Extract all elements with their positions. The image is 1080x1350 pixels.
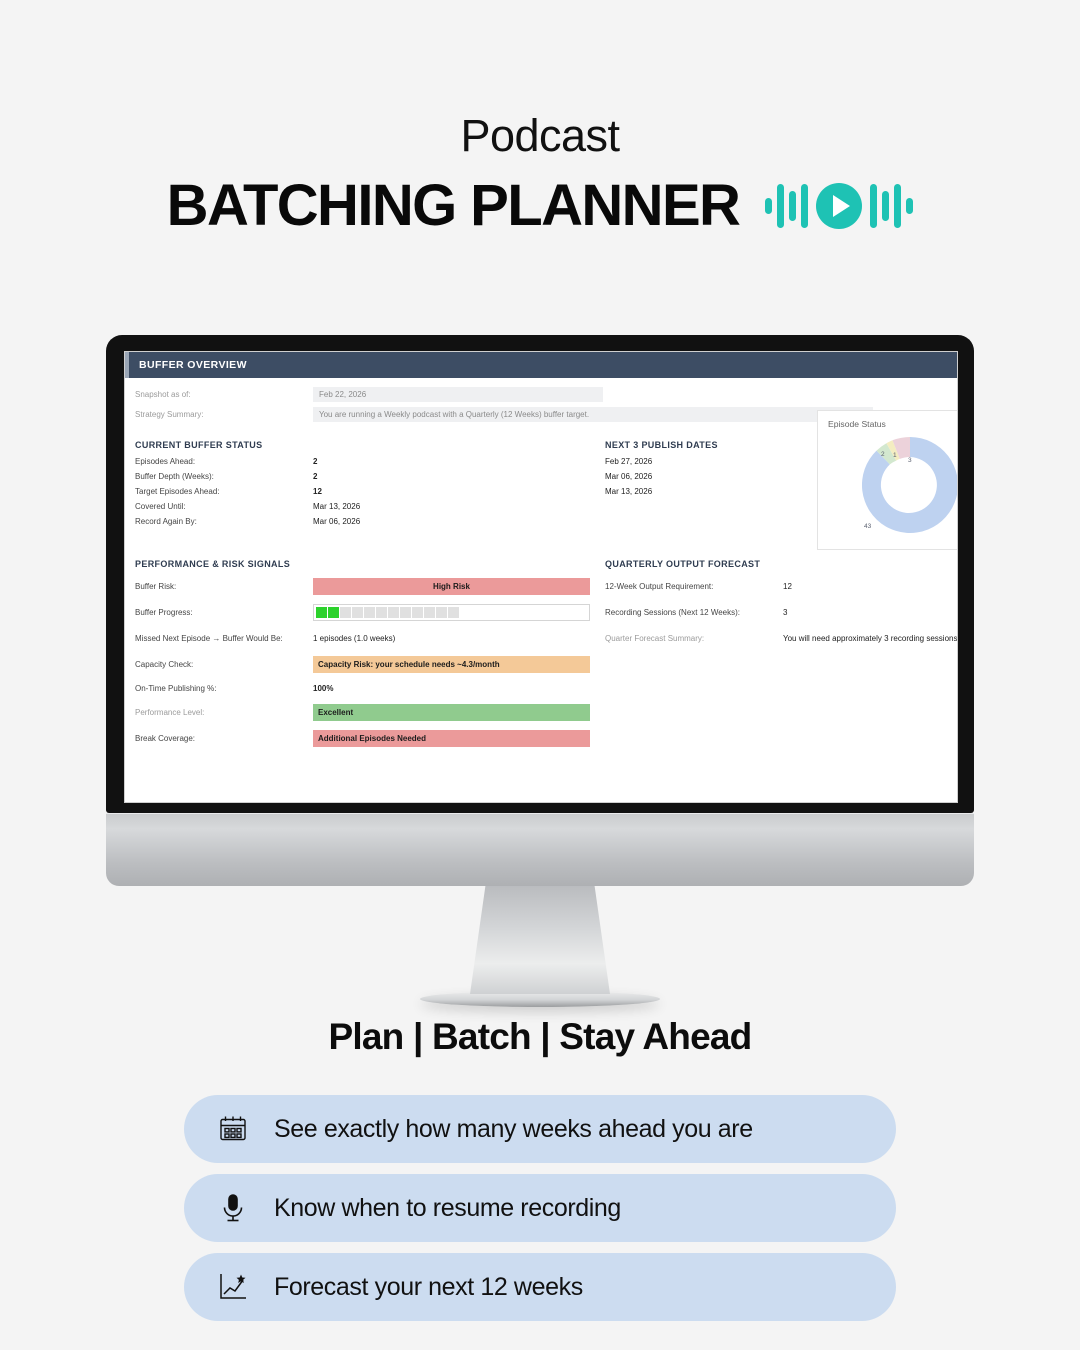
list-item: Mar 06, 2026 bbox=[605, 469, 805, 484]
buffer-risk-label: Buffer Risk: bbox=[135, 582, 313, 591]
donut-label: 1 bbox=[893, 452, 897, 459]
row-break-coverage: Break Coverage: Additional Episodes Need… bbox=[135, 725, 605, 751]
progress-block bbox=[412, 607, 423, 618]
performance-risk-signals: PERFORMANCE & RISK SIGNALS Buffer Risk: … bbox=[135, 559, 605, 751]
row-missed-episode: Missed Next Episode → Buffer Would Be: 1… bbox=[135, 625, 605, 651]
status-badge-break-coverage: Additional Episodes Needed bbox=[313, 730, 590, 747]
strategy-value[interactable]: You are running a Weekly podcast with a … bbox=[313, 407, 873, 422]
row-buffer-risk: Buffer Risk: High Risk bbox=[135, 573, 605, 599]
upper-columns: CURRENT BUFFER STATUS Episodes Ahead: 2 … bbox=[135, 440, 958, 529]
wave-bar bbox=[882, 191, 889, 221]
monitor-bezel: BUFFER OVERVIEW Snapshot as of: Feb 22, … bbox=[106, 335, 974, 813]
publish-date: Mar 13, 2026 bbox=[605, 487, 652, 496]
chart-title: Episode Status bbox=[828, 419, 958, 429]
progress-block bbox=[376, 607, 387, 618]
chart-star-icon bbox=[214, 1270, 252, 1304]
capacity-check-label: Capacity Check: bbox=[135, 660, 313, 669]
row-label: Target Episodes Ahead: bbox=[135, 487, 313, 496]
wave-bar bbox=[777, 184, 784, 228]
summary-label: Quarter Forecast Summary: bbox=[605, 634, 783, 643]
row-snapshot: Snapshot as of: Feb 22, 2026 bbox=[135, 387, 958, 402]
next-publish-dates-title: NEXT 3 PUBLISH DATES bbox=[605, 440, 805, 450]
monitor-mockup: BUFFER OVERVIEW Snapshot as of: Feb 22, … bbox=[106, 335, 974, 1007]
wave-bar bbox=[801, 184, 808, 228]
progress-block bbox=[388, 607, 399, 618]
monitor-neck bbox=[470, 886, 610, 994]
sessions-label: Recording Sessions (Next 12 Weeks): bbox=[605, 608, 783, 617]
progress-block bbox=[328, 607, 339, 618]
spreadsheet-body: Snapshot as of: Feb 22, 2026 Strategy Su… bbox=[125, 378, 958, 751]
promo-page: Podcast BATCHING PLANNER B bbox=[0, 0, 1080, 1350]
sessions-value: 3 bbox=[783, 608, 787, 617]
requirement-label: 12-Week Output Requirement: bbox=[605, 582, 783, 591]
progress-block bbox=[364, 607, 375, 618]
monitor-chin bbox=[106, 813, 974, 886]
spreadsheet: BUFFER OVERVIEW Snapshot as of: Feb 22, … bbox=[125, 352, 958, 751]
status-badge-performance: Excellent bbox=[313, 704, 590, 721]
header-title-row: BATCHING PLANNER bbox=[0, 177, 1080, 235]
feature-list: See exactly how many weeks ahead you are… bbox=[184, 1095, 896, 1332]
feature-label: See exactly how many weeks ahead you are bbox=[274, 1115, 753, 1144]
row-label: Buffer Depth (Weeks): bbox=[135, 472, 313, 481]
progress-block bbox=[436, 607, 447, 618]
publish-date: Mar 06, 2026 bbox=[605, 472, 652, 481]
calendar-icon bbox=[214, 1112, 252, 1146]
monitor-screen: BUFFER OVERVIEW Snapshot as of: Feb 22, … bbox=[124, 351, 958, 803]
row-label: Covered Until: bbox=[135, 502, 313, 511]
status-badge-capacity: Capacity Risk: your schedule needs ~4.3/… bbox=[313, 656, 590, 673]
missed-episode-value: 1 episodes (1.0 weeks) bbox=[313, 634, 395, 643]
list-item: Feb 27, 2026 bbox=[605, 454, 805, 469]
ontime-label: On-Time Publishing %: bbox=[135, 684, 313, 693]
buffer-progress-label: Buffer Progress: bbox=[135, 608, 313, 617]
wave-bar bbox=[906, 198, 913, 214]
row-value: 2 bbox=[313, 457, 317, 466]
header-eyebrow: Podcast bbox=[0, 112, 1080, 159]
play-triangle bbox=[833, 195, 850, 217]
row-output-requirement: 12-Week Output Requirement: 12 bbox=[605, 573, 958, 599]
row-label: Episodes Ahead: bbox=[135, 457, 313, 466]
table-row: Record Again By: Mar 06, 2026 bbox=[135, 514, 605, 529]
publish-date: Feb 27, 2026 bbox=[605, 457, 652, 466]
progress-block bbox=[352, 607, 363, 618]
row-ontime-publishing: On-Time Publishing %: 100% bbox=[135, 677, 605, 699]
quarterly-forecast-title: QUARTERLY OUTPUT FORECAST bbox=[605, 559, 958, 569]
missed-episode-label: Missed Next Episode → Buffer Would Be: bbox=[135, 634, 313, 643]
donut-chart: 43 2 1 3 bbox=[850, 431, 958, 543]
lower-columns: PERFORMANCE & RISK SIGNALS Buffer Risk: … bbox=[135, 559, 958, 751]
performance-risk-title: PERFORMANCE & RISK SIGNALS bbox=[135, 559, 605, 569]
ontime-value: 100% bbox=[313, 684, 333, 693]
donut-label: 2 bbox=[881, 451, 885, 458]
row-forecast-summary: Quarter Forecast Summary: You will need … bbox=[605, 625, 958, 651]
feature-label: Forecast your next 12 weeks bbox=[274, 1273, 583, 1302]
play-icon bbox=[816, 183, 862, 229]
next-publish-dates: NEXT 3 PUBLISH DATES Feb 27, 2026 Mar 06… bbox=[605, 440, 805, 499]
page-header: Podcast BATCHING PLANNER bbox=[0, 112, 1080, 235]
table-row: Buffer Depth (Weeks): 2 bbox=[135, 469, 605, 484]
requirement-value: 12 bbox=[783, 582, 792, 591]
wave-bar bbox=[789, 191, 796, 221]
summary-value: You will need approximately 3 recording … bbox=[783, 634, 958, 643]
performance-level-label: Performance Level: bbox=[135, 708, 313, 717]
feature-item-forecast: Forecast your next 12 weeks bbox=[184, 1253, 896, 1321]
current-buffer-status-title: CURRENT BUFFER STATUS bbox=[135, 440, 605, 450]
row-value: Mar 13, 2026 bbox=[313, 502, 360, 511]
wave-bar bbox=[870, 184, 877, 228]
list-item: Mar 13, 2026 bbox=[605, 484, 805, 499]
donut-label: 43 bbox=[864, 523, 871, 530]
table-row: Covered Until: Mar 13, 2026 bbox=[135, 499, 605, 514]
wave-bar bbox=[894, 184, 901, 228]
donut-label: 3 bbox=[908, 457, 912, 464]
microphone-icon bbox=[214, 1191, 252, 1225]
snapshot-value[interactable]: Feb 22, 2026 bbox=[313, 387, 603, 402]
row-buffer-progress: Buffer Progress: bbox=[135, 599, 605, 625]
feature-item-resume-recording: Know when to resume recording bbox=[184, 1174, 896, 1242]
row-label: Record Again By: bbox=[135, 517, 313, 526]
page-title: BATCHING PLANNER bbox=[167, 177, 740, 235]
row-value: 12 bbox=[313, 487, 322, 496]
tagline: Plan | Batch | Stay Ahead bbox=[0, 1016, 1080, 1058]
progress-block bbox=[424, 607, 435, 618]
progress-block bbox=[316, 607, 327, 618]
strategy-label: Strategy Summary: bbox=[135, 410, 313, 419]
row-capacity-check: Capacity Check: Capacity Risk: your sche… bbox=[135, 651, 605, 677]
row-value: 2 bbox=[313, 472, 317, 481]
progress-block bbox=[448, 607, 459, 618]
row-recording-sessions: Recording Sessions (Next 12 Weeks): 3 bbox=[605, 599, 958, 625]
snapshot-label: Snapshot as of: bbox=[135, 390, 313, 399]
table-row: Episodes Ahead: 2 bbox=[135, 454, 605, 469]
feature-item-weeks-ahead: See exactly how many weeks ahead you are bbox=[184, 1095, 896, 1163]
table-row: Target Episodes Ahead: 12 bbox=[135, 484, 605, 499]
audio-wave-play-icon bbox=[765, 177, 913, 235]
current-buffer-status: CURRENT BUFFER STATUS Episodes Ahead: 2 … bbox=[135, 440, 605, 529]
progress-block bbox=[400, 607, 411, 618]
break-coverage-label: Break Coverage: bbox=[135, 734, 313, 743]
row-value: Mar 06, 2026 bbox=[313, 517, 360, 526]
progress-block bbox=[340, 607, 351, 618]
section-header-buffer-overview: BUFFER OVERVIEW bbox=[125, 352, 958, 378]
next-publish-and-chart: NEXT 3 PUBLISH DATES Feb 27, 2026 Mar 06… bbox=[605, 440, 958, 529]
feature-label: Know when to resume recording bbox=[274, 1194, 621, 1223]
status-badge-buffer-risk: High Risk bbox=[313, 578, 590, 595]
buffer-progress-bar bbox=[313, 604, 590, 621]
row-performance-level: Performance Level: Excellent bbox=[135, 699, 605, 725]
episode-status-chart: Episode Status bbox=[817, 410, 958, 550]
quarterly-output-forecast: QUARTERLY OUTPUT FORECAST 12-Week Output… bbox=[605, 559, 958, 751]
wave-bar bbox=[765, 198, 772, 214]
